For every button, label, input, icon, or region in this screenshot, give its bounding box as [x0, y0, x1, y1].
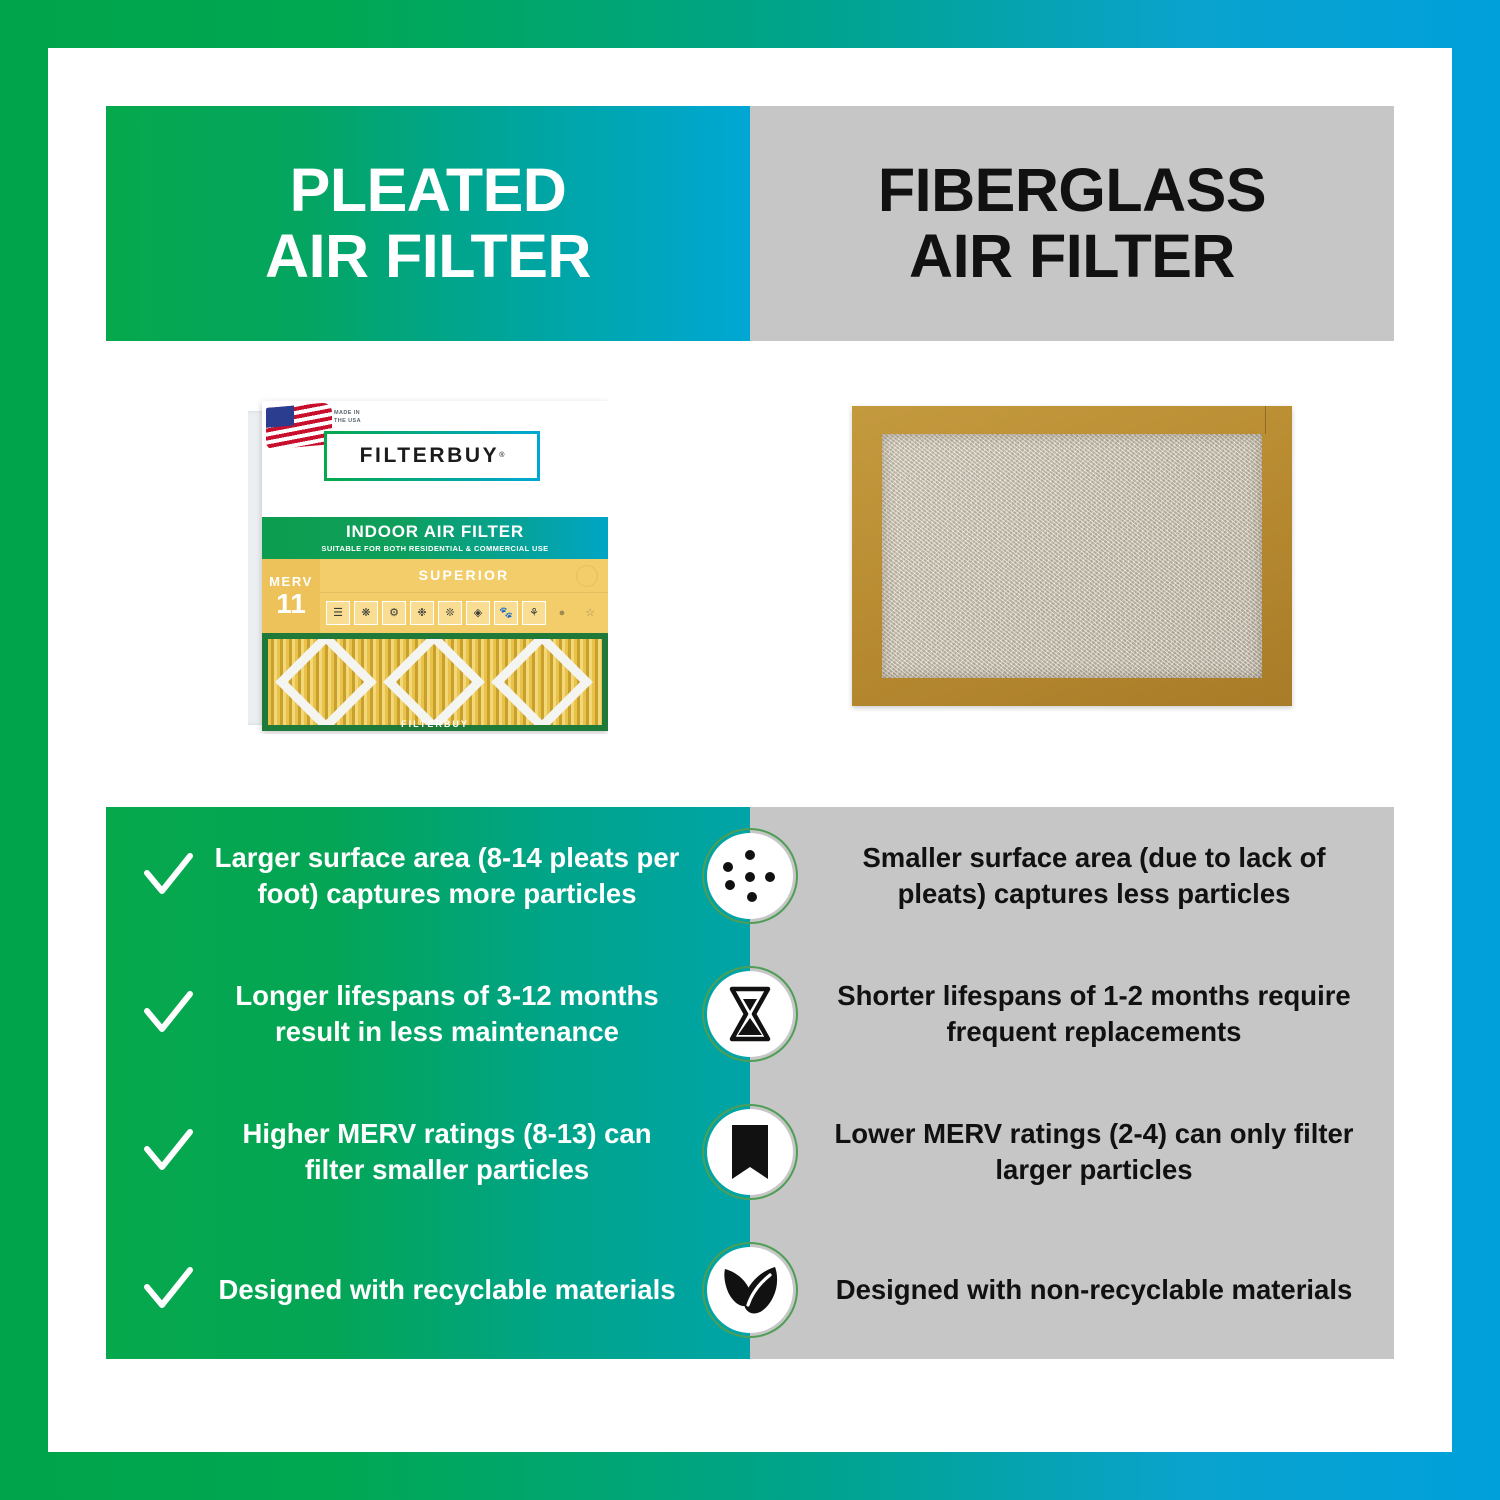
pleated-box-face: MADE IN THE USA FILTERBUY® INDOOR AIR FI… — [262, 401, 608, 731]
comparison-row-right: Lower MERV ratings (2-4) can only filter… — [802, 1106, 1394, 1198]
product-cell-fiberglass — [750, 341, 1394, 771]
merv-strip-right: SUPERIOR ☰ ❋ ⚙ ❉ ❊ ◈ — [320, 559, 608, 633]
infographic-canvas: PLEATED AIR FILTER FIBERGLASS AIR FILTER… — [48, 48, 1452, 1452]
header-pleated: PLEATED AIR FILTER — [106, 106, 750, 341]
comparison-row-left: Designed with recyclable materials — [106, 1252, 698, 1328]
comparison-row: Higher MERV ratings (8-13) can filter sm… — [106, 1083, 1394, 1221]
ul-certification-icon — [576, 565, 598, 587]
icon-disc — [707, 1109, 793, 1195]
product-cell-pleated: MADE IN THE USA FILTERBUY® INDOOR AIR FI… — [106, 341, 750, 771]
comparison-row: Designed with recyclable materials — [106, 1221, 1394, 1359]
pleated-media — [268, 639, 602, 725]
comparison-left-text: Larger surface area (8-14 pleats per foo… — [214, 840, 680, 912]
made-in-usa-label: MADE IN THE USA — [334, 409, 361, 426]
support-diamond — [383, 639, 485, 725]
merv-value: 11 — [276, 590, 306, 618]
particle-dots — [721, 850, 779, 902]
comparison-icon-cell — [698, 828, 802, 924]
comparison-row: Longer lifespans of 3-12 months result i… — [106, 945, 1394, 1083]
virus-icon: ⚘ — [522, 601, 546, 625]
comparison-row: Larger surface area (8-14 pleats per foo… — [106, 807, 1394, 945]
comparison-icon-cell — [698, 1104, 802, 1200]
comparison-row-left: Higher MERV ratings (8-13) can filter sm… — [106, 1106, 698, 1198]
checkmark-icon — [140, 986, 196, 1042]
header-row: PLEATED AIR FILTER FIBERGLASS AIR FILTER — [106, 106, 1394, 341]
smog-icon: ☆ — [578, 601, 602, 625]
pet-dander-icon: 🐾 — [494, 601, 518, 625]
bookmark-icon — [702, 1104, 798, 1200]
comparison-right-text: Shorter lifespans of 1-2 months require … — [828, 978, 1360, 1050]
header-fiberglass: FIBERGLASS AIR FILTER — [750, 106, 1394, 341]
filterbuy-logo: FILTERBUY® — [324, 431, 540, 481]
pollen-icon: ⚙ — [382, 601, 406, 625]
checkmark-icon — [140, 848, 196, 904]
frame-seam — [1265, 406, 1266, 434]
icon-disc — [707, 833, 793, 919]
odor-icon: ● — [550, 601, 574, 625]
comparison-right-text: Lower MERV ratings (2-4) can only filter… — [828, 1116, 1360, 1188]
checkmark-icon — [140, 1124, 196, 1180]
comparison-row-left: Larger surface area (8-14 pleats per foo… — [106, 830, 698, 922]
fiberglass-filter-image — [852, 406, 1292, 706]
products-row: MADE IN THE USA FILTERBUY® INDOOR AIR FI… — [106, 341, 1394, 771]
mold-spore-icon: ❉ — [410, 601, 434, 625]
icon-disc — [707, 971, 793, 1057]
merv-strip: MERV 11 SUPERIOR ☰ ❋ — [262, 559, 608, 633]
leaf-icon — [702, 1242, 798, 1338]
comparison-left-text: Designed with recyclable materials — [214, 1272, 680, 1308]
comparison-right-text: Designed with non-recyclable materials — [828, 1272, 1360, 1308]
comparison-row-right: Smaller surface area (due to lack of ple… — [802, 830, 1394, 922]
band-main-label: INDOOR AIR FILTER — [346, 522, 524, 542]
comparison-icon-cell — [698, 1242, 802, 1338]
icon-disc — [707, 1247, 793, 1333]
dust-icon: ☰ — [326, 601, 350, 625]
filterbuy-logo-text: FILTERBUY — [360, 444, 500, 468]
merv-label: MERV — [269, 574, 313, 589]
comparison-icon-cell — [698, 966, 802, 1062]
support-diamond — [275, 639, 377, 725]
comparison-left-text: Longer lifespans of 3-12 months result i… — [214, 978, 680, 1050]
comparison-right-text: Smaller surface area (due to lack of ple… — [828, 840, 1360, 912]
comparison-rows: Larger surface area (8-14 pleats per foo… — [106, 807, 1394, 1359]
infographic-root: PLEATED AIR FILTER FIBERGLASS AIR FILTER… — [0, 0, 1500, 1500]
comparison-row-right: Designed with non-recyclable materials — [802, 1262, 1394, 1318]
pleated-filter-image: MADE IN THE USA FILTERBUY® INDOOR AIR FI… — [248, 379, 608, 734]
allergen-icon: ❊ — [438, 601, 462, 625]
checkmark-icon — [140, 1262, 196, 1318]
comparison-section: Larger surface area (8-14 pleats per foo… — [106, 807, 1394, 1359]
merv-badge: MERV 11 — [262, 559, 320, 633]
comparison-row-right: Shorter lifespans of 1-2 months require … — [802, 968, 1394, 1060]
usa-flag-icon — [266, 402, 332, 450]
pleated-media-area: FILTERBUY — [262, 633, 608, 731]
support-diamond — [491, 639, 593, 725]
pleated-brand-footer: FILTERBUY — [262, 719, 608, 729]
band-sub-label: SUITABLE FOR BOTH RESIDENTIAL & COMMERCI… — [321, 544, 548, 553]
bacteria-icon: ❋ — [354, 601, 378, 625]
comparison-row-left: Longer lifespans of 3-12 months result i… — [106, 968, 698, 1060]
fiberglass-media — [882, 434, 1262, 678]
particles-icon — [702, 828, 798, 924]
comparison-left-text: Higher MERV ratings (8-13) can filter sm… — [214, 1116, 680, 1188]
trademark-symbol: ® — [499, 452, 504, 459]
smoke-icon: ◈ — [466, 601, 490, 625]
indoor-air-filter-band: INDOOR AIR FILTER SUITABLE FOR BOTH RESI… — [262, 517, 608, 559]
grade-label: SUPERIOR — [419, 567, 510, 583]
grade-label-row: SUPERIOR — [320, 559, 608, 593]
header-pleated-title: PLEATED AIR FILTER — [265, 158, 591, 289]
hourglass-icon — [702, 966, 798, 1062]
feature-icon-row: ☰ ❋ ⚙ ❉ ❊ ◈ 🐾 ⚘ ● ☆ — [320, 593, 608, 633]
header-fiberglass-title: FIBERGLASS AIR FILTER — [878, 158, 1266, 289]
